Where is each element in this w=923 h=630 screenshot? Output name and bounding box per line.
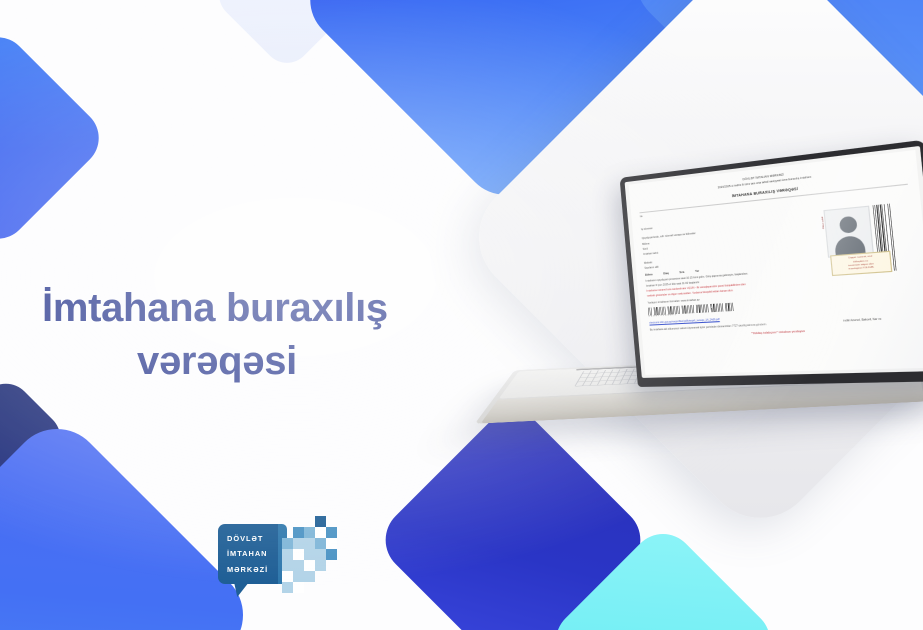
logo-pixel (326, 549, 337, 560)
logo-pixel (315, 516, 326, 527)
logo-pixel (293, 538, 304, 549)
document-col-header-4: Yer (695, 270, 699, 274)
logo-pixel (282, 538, 293, 549)
logo-pixel (304, 527, 315, 538)
avatar-icon (838, 216, 857, 234)
logo-pixel (315, 549, 326, 560)
logo-pixel (326, 527, 337, 538)
logo-pixel (293, 560, 304, 571)
logo-pixel (282, 549, 293, 560)
logo-pixel (304, 549, 315, 560)
laptop-illustration: DÖVLƏT İMTAHAN MƏRKƏZİ 2024/2025-ci tədr… (510, 175, 923, 455)
logo-pixel (293, 527, 304, 538)
logo-line-2: İMTAHAN (227, 546, 268, 561)
headline-line-1: İmtahana buraxılış (42, 282, 462, 335)
logo-line-3: MƏRKƏZİ (227, 562, 268, 577)
logo-pixel (293, 549, 304, 560)
logo-pixel (293, 582, 304, 593)
dim-logo: DÖVLƏT İMTAHAN MƏRKƏZİ (218, 516, 348, 598)
logo-pixel (315, 560, 326, 571)
document-col-header-3: Sıra (679, 271, 684, 275)
page-title: İmtahana buraxılış vərəqəsi (42, 282, 462, 388)
logo-pixel (304, 571, 315, 582)
decorative-diamond-top-left (0, 25, 111, 251)
logo-pixel (304, 538, 315, 549)
logo-pixel (326, 538, 337, 549)
logo-pixel (304, 560, 315, 571)
document-left-column: İş nömrəsi Qeydiyyat kodu, sıfır nömrəli… (641, 210, 833, 318)
document-photo-area: Əlavə şəkil Diqqət: nəzarəti, ozəl itibl… (823, 206, 879, 309)
logo-pixel (282, 582, 293, 593)
logo-text: DÖVLƏT İMTAHAN MƏRKƏZİ (227, 531, 268, 577)
document-footer-right: indiki Azərsel, Bakcell, Nar və (843, 315, 921, 323)
document-right-column: Əlavə şəkil Diqqət: nəzarəti, ozəl itibl… (823, 202, 920, 309)
logo-pixel (315, 527, 326, 538)
document-warning-badge: Diqqət: nəzarəti, ozəl itibləşdirin və t… (830, 251, 892, 277)
headline-line-2: vərəqəsi (42, 335, 462, 388)
logo-pixel (315, 538, 326, 549)
laptop-lid: DÖVLƏT İMTAHAN MƏRKƏZİ 2024/2025-ci tədr… (620, 140, 923, 387)
logo-pixel (282, 571, 293, 582)
logo-line-1: DÖVLƏT (227, 531, 268, 546)
document-col-header-1: Bölmə (645, 273, 653, 277)
banner-canvas: DÖVLƏT İMTAHAN MƏRKƏZİ 2024/2025-ci tədr… (0, 0, 923, 630)
logo-pixel-pages (282, 516, 348, 598)
document-col-header-2: Otaq (663, 272, 669, 276)
exam-admission-document: DÖVLƏT İMTAHAN MƏRKƏZİ 2024/2025-ci tədr… (629, 150, 923, 375)
laptop-screen: DÖVLƏT İMTAHAN MƏRKƏZİ 2024/2025-ci tədr… (625, 146, 923, 378)
document-photo-placeholder (823, 206, 874, 258)
logo-pixel (293, 571, 304, 582)
logo-pixel (282, 560, 293, 571)
